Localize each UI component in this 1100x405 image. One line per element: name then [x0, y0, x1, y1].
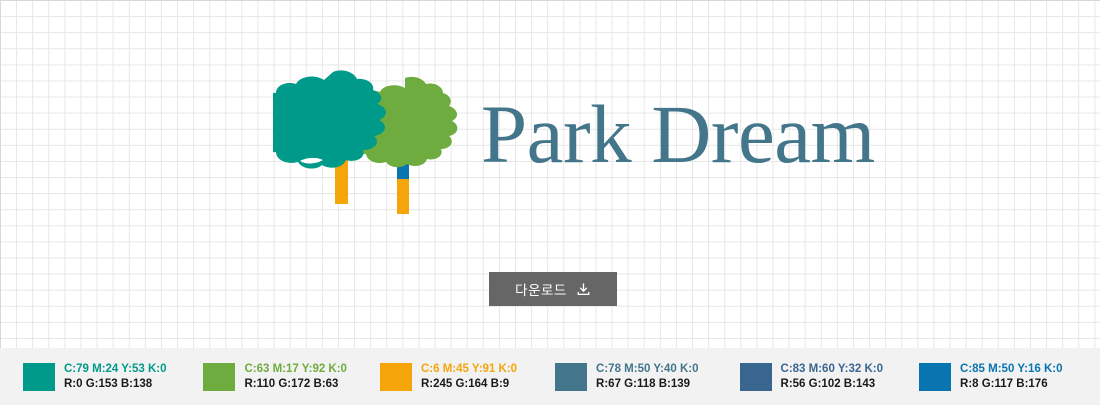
- download-icon: [576, 282, 591, 297]
- download-button[interactable]: 다운로드: [489, 272, 617, 306]
- logo-preview-page: Park Dream 다운로드 C:79 M:24 Y:53 K:0 R:0 G…: [0, 0, 1100, 405]
- swatch-values: C:78 M:50 Y:40 K:0 R:67 G:118 B:139: [596, 362, 698, 392]
- swatch-cmyk: C:78 M:50 Y:40 K:0: [596, 362, 698, 376]
- swatch-rgb: R:0 G:153 B:138: [64, 377, 166, 391]
- swatch-cmyk: C:79 M:24 Y:53 K:0: [64, 362, 166, 376]
- swatch-chip: [919, 363, 951, 391]
- swatch-values: C:85 M:50 Y:16 K:0 R:8 G:117 B:176: [960, 362, 1062, 392]
- swatch-rgb: R:245 G:164 B:9: [421, 377, 517, 391]
- swatch-cmyk: C:6 M:45 Y:91 K:0: [421, 362, 517, 376]
- logo-lockup: Park Dream: [273, 49, 843, 214]
- swatch-rgb: R:8 G:117 B:176: [960, 377, 1062, 391]
- palette-swatch[interactable]: C:83 M:60 Y:32 K:0 R:56 G:102 B:143: [740, 362, 883, 392]
- swatch-rgb: R:67 G:118 B:139: [596, 377, 698, 391]
- swatch-chip: [740, 363, 772, 391]
- logo-canvas: Park Dream 다운로드: [0, 0, 1100, 348]
- two-trees-logo-icon: [273, 49, 463, 214]
- palette-swatch[interactable]: C:85 M:50 Y:16 K:0 R:8 G:117 B:176: [919, 362, 1062, 392]
- swatch-chip: [203, 363, 235, 391]
- swatch-chip: [23, 363, 55, 391]
- swatch-values: C:6 M:45 Y:91 K:0 R:245 G:164 B:9: [421, 362, 517, 392]
- palette-swatch[interactable]: C:6 M:45 Y:91 K:0 R:245 G:164 B:9: [380, 362, 517, 392]
- swatch-cmyk: C:83 M:60 Y:32 K:0: [781, 362, 883, 376]
- palette-swatch[interactable]: C:63 M:17 Y:92 K:0 R:110 G:172 B:63: [203, 362, 346, 392]
- download-button-label: 다운로드: [515, 279, 567, 299]
- logo-wordmark: Park Dream: [481, 93, 875, 176]
- color-palette-bar: C:79 M:24 Y:53 K:0 R:0 G:153 B:138 C:63 …: [0, 348, 1100, 405]
- palette-swatch[interactable]: C:79 M:24 Y:53 K:0 R:0 G:153 B:138: [23, 362, 166, 392]
- swatch-chip: [555, 363, 587, 391]
- swatch-cmyk: C:63 M:17 Y:92 K:0: [244, 362, 346, 376]
- swatch-values: C:79 M:24 Y:53 K:0 R:0 G:153 B:138: [64, 362, 166, 392]
- swatch-chip: [380, 363, 412, 391]
- swatch-rgb: R:110 G:172 B:63: [244, 377, 346, 391]
- palette-swatch[interactable]: C:78 M:50 Y:40 K:0 R:67 G:118 B:139: [555, 362, 698, 392]
- swatch-rgb: R:56 G:102 B:143: [781, 377, 883, 391]
- swatch-values: C:83 M:60 Y:32 K:0 R:56 G:102 B:143: [781, 362, 883, 392]
- swatch-values: C:63 M:17 Y:92 K:0 R:110 G:172 B:63: [244, 362, 346, 392]
- swatch-cmyk: C:85 M:50 Y:16 K:0: [960, 362, 1062, 376]
